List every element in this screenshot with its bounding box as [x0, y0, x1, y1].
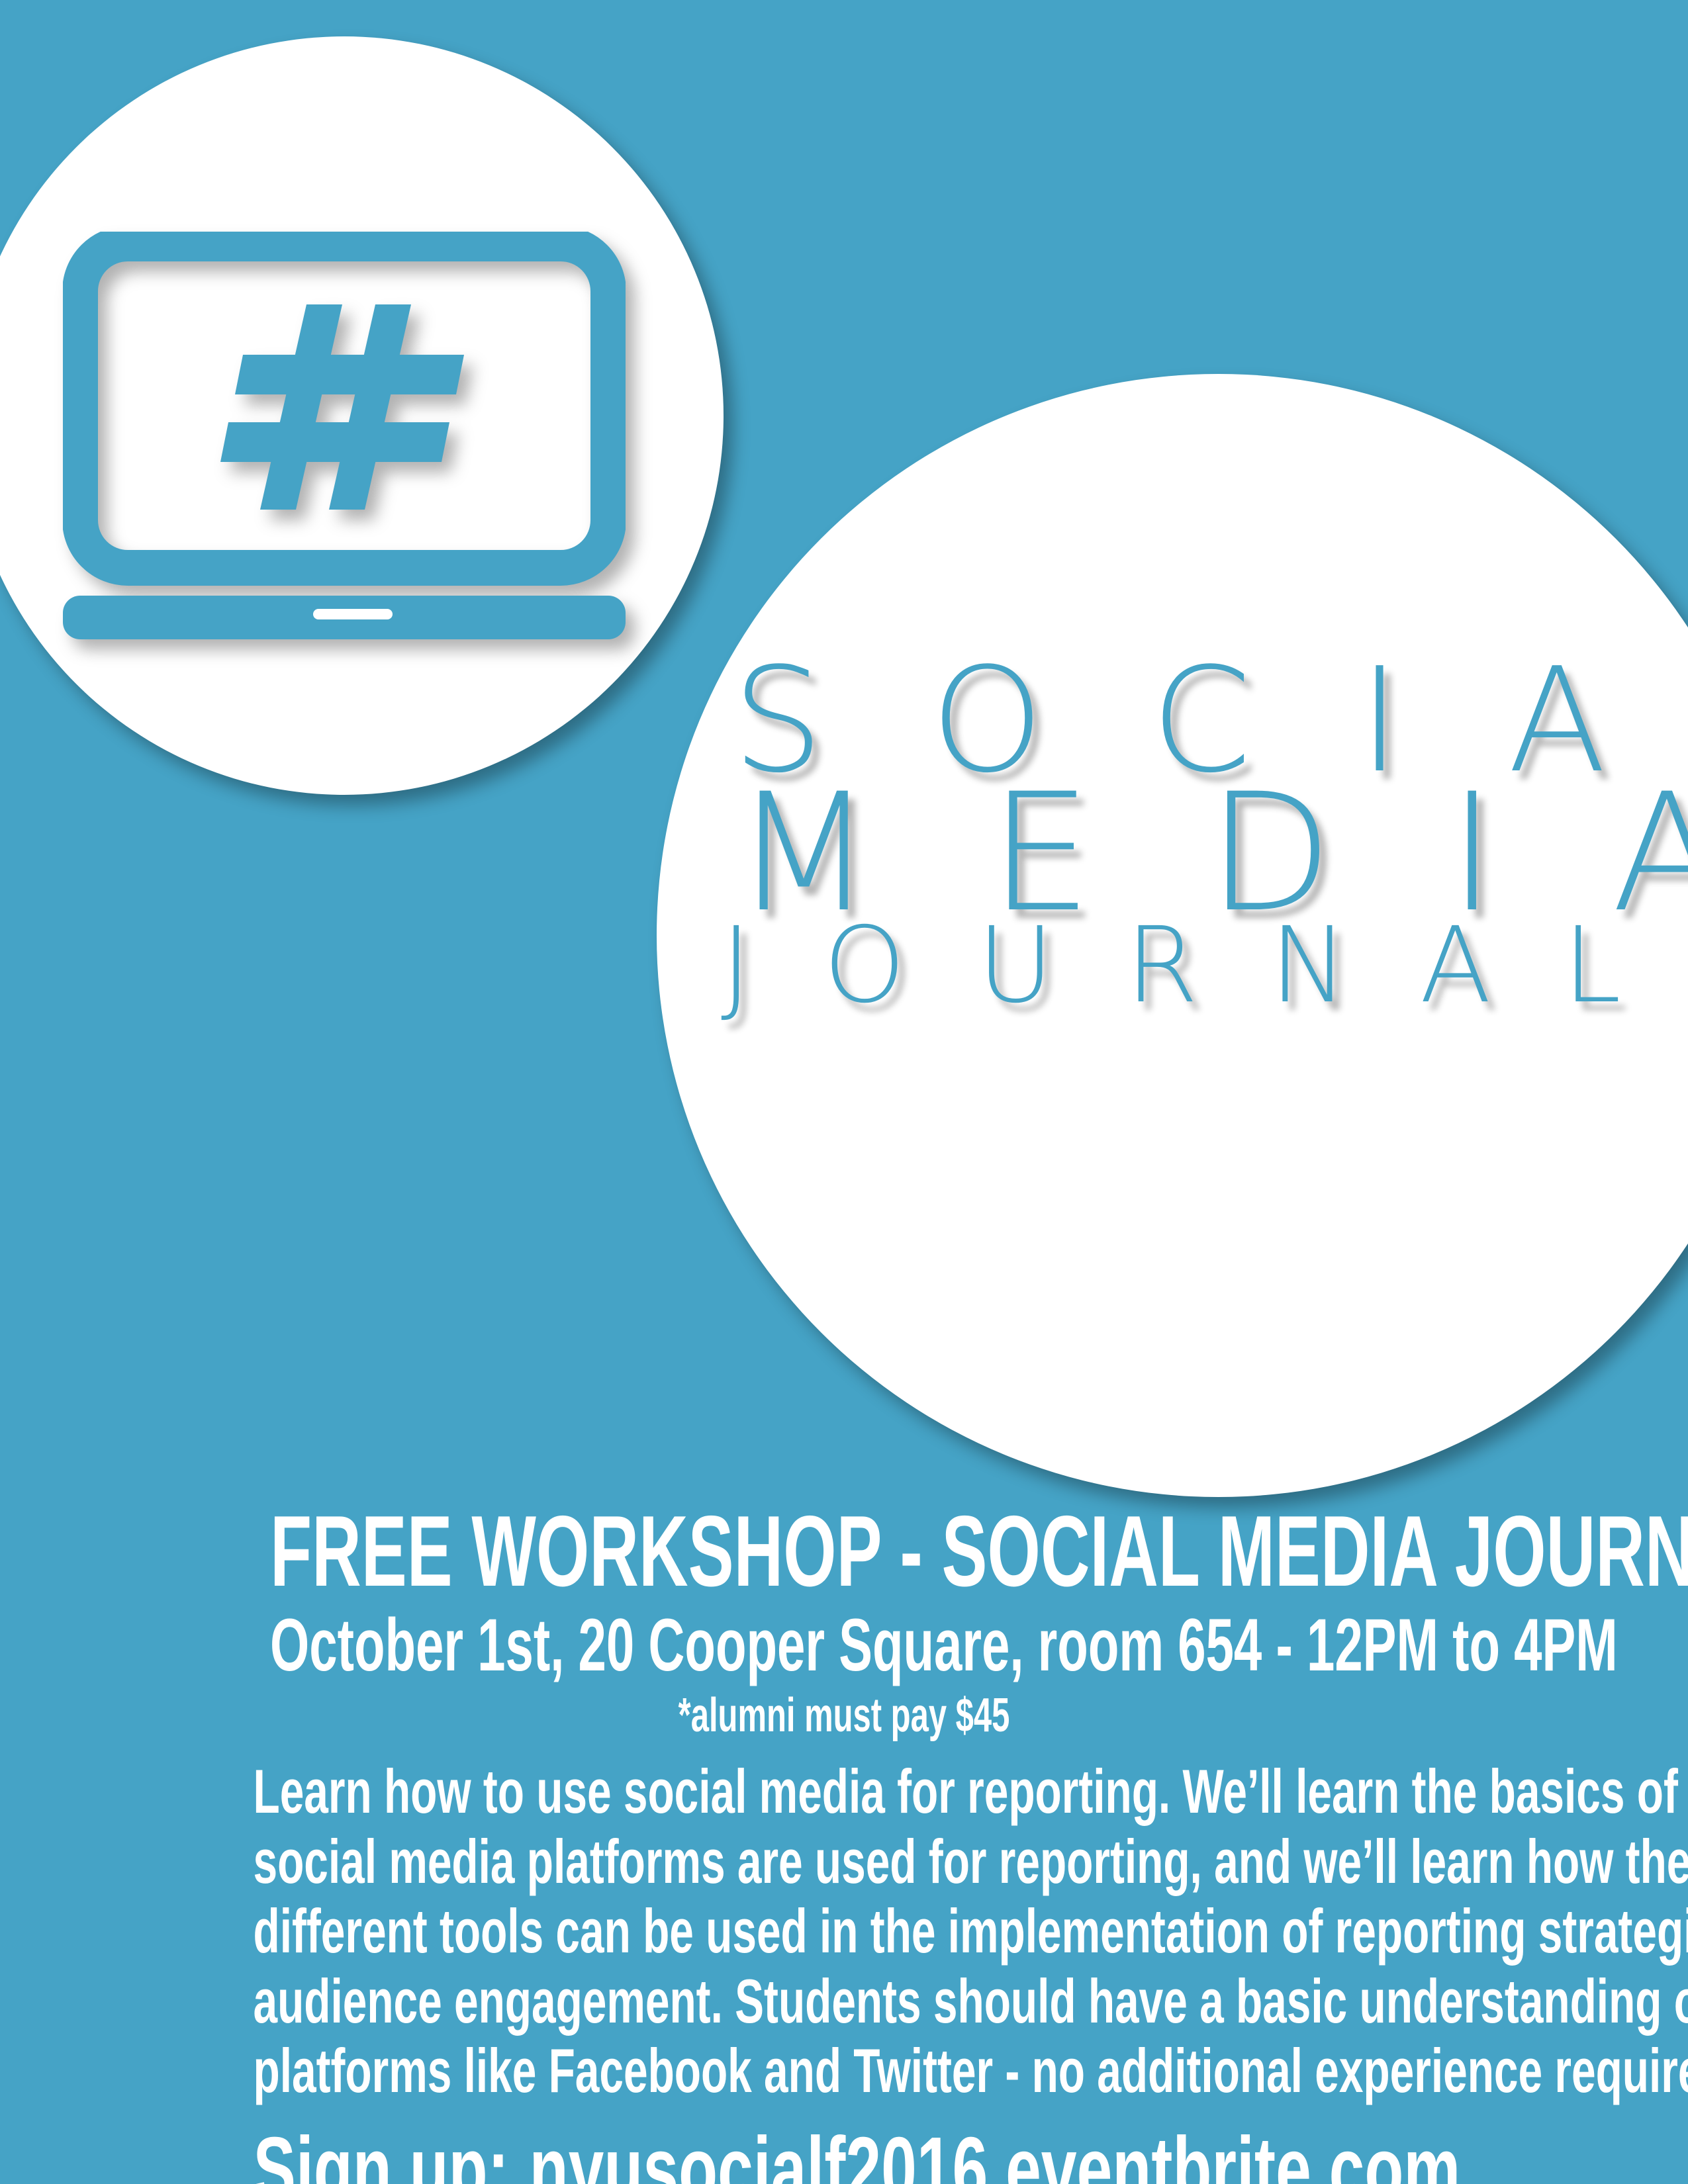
info-block: FREE WORKSHOP - SOCIAL MEDIA JOURNALISM …: [0, 1499, 1688, 2184]
signup-row: Sign up:nyusocialf2016.eventbrite.com: [254, 2122, 1435, 2184]
title-line-journalism: J O U R N A L I S M: [702, 918, 1688, 1014]
event-description: Learn how to use social media for report…: [0, 1758, 1688, 2105]
signup-label: Sign up:: [254, 2118, 509, 2184]
event-headline: FREE WORKSHOP - SOCIAL MEDIA JOURNALISM: [270, 1499, 1418, 1604]
poster-title: S O C I A L M E D I A J O U R N A L I S …: [702, 655, 1688, 1014]
description-line: Learn how to use social media for report…: [254, 1758, 1435, 1825]
event-details: October 1st, 20 Cooper Square, room 654 …: [270, 1606, 1418, 1684]
description-line: different tools can be used in the imple…: [254, 1897, 1435, 1965]
description-line: social media platforms are used for repo…: [254, 1828, 1435, 1895]
poster-canvas: S O C I A L M E D I A J O U R N A L I S …: [0, 0, 1688, 2184]
signup-url[interactable]: nyusocialf2016.eventbrite.com: [530, 2118, 1461, 2184]
laptop-hashtag-icon: [63, 232, 626, 649]
description-line: audience engagement. Students should hav…: [254, 1968, 1435, 2035]
description-line: platforms like Facebook and Twitter - no…: [254, 2037, 1435, 2105]
alumni-fee-note: *alumni must pay $45: [270, 1691, 1418, 1741]
